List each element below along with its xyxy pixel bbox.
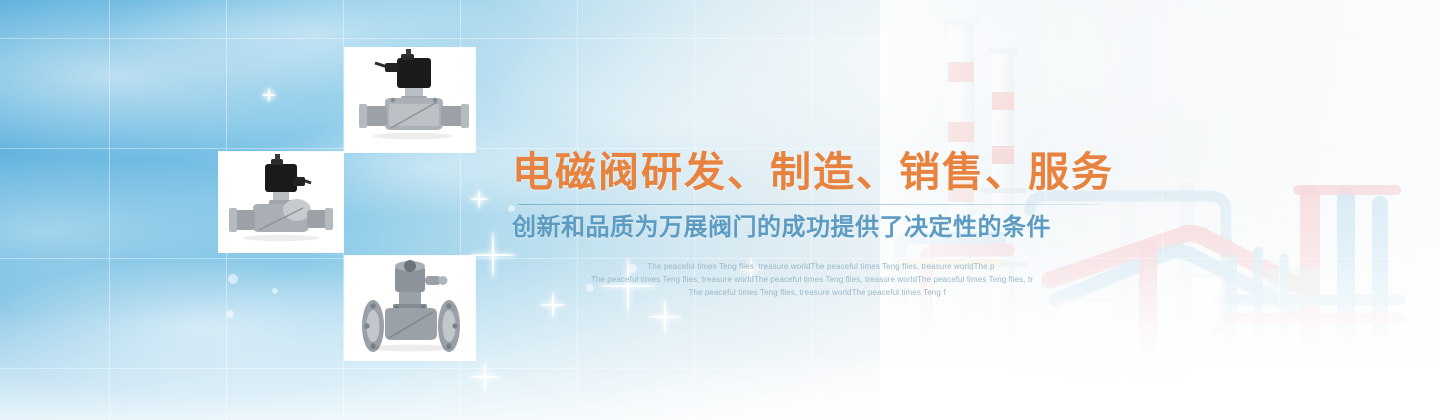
blurb-line-3: The peaceful times Teng flies, treasure … [512, 286, 1112, 299]
blurb-line-2: The peaceful times Teng flies, treasure … [512, 273, 1112, 286]
product-thumbnail-solenoid-valve-angle-body[interactable] [219, 152, 343, 252]
product-thumbnail-solenoid-valve-flanged[interactable] [345, 256, 475, 360]
hero-banner: 电磁阀研发、制造、销售、服务 创新和品质为万展阀门的成功提供了决定性的条件 Th… [0, 0, 1440, 420]
banner-subheadline: 创新和品质为万展阀门的成功提供了决定性的条件 [512, 212, 1112, 243]
banner-headline: 电磁阀研发、制造、销售、服务 [512, 148, 1112, 196]
headline-divider [518, 204, 1102, 205]
banner-blurb: The peaceful times Teng flies, treasure … [512, 260, 1112, 300]
banner-copy: 电磁阀研发、制造、销售、服务 创新和品质为万展阀门的成功提供了决定性的条件 Th… [512, 148, 1112, 299]
blurb-line-1: The peaceful times Teng flies, treasure … [512, 260, 1112, 273]
product-thumbnail-solenoid-valve-threaded-inline[interactable] [345, 48, 475, 152]
